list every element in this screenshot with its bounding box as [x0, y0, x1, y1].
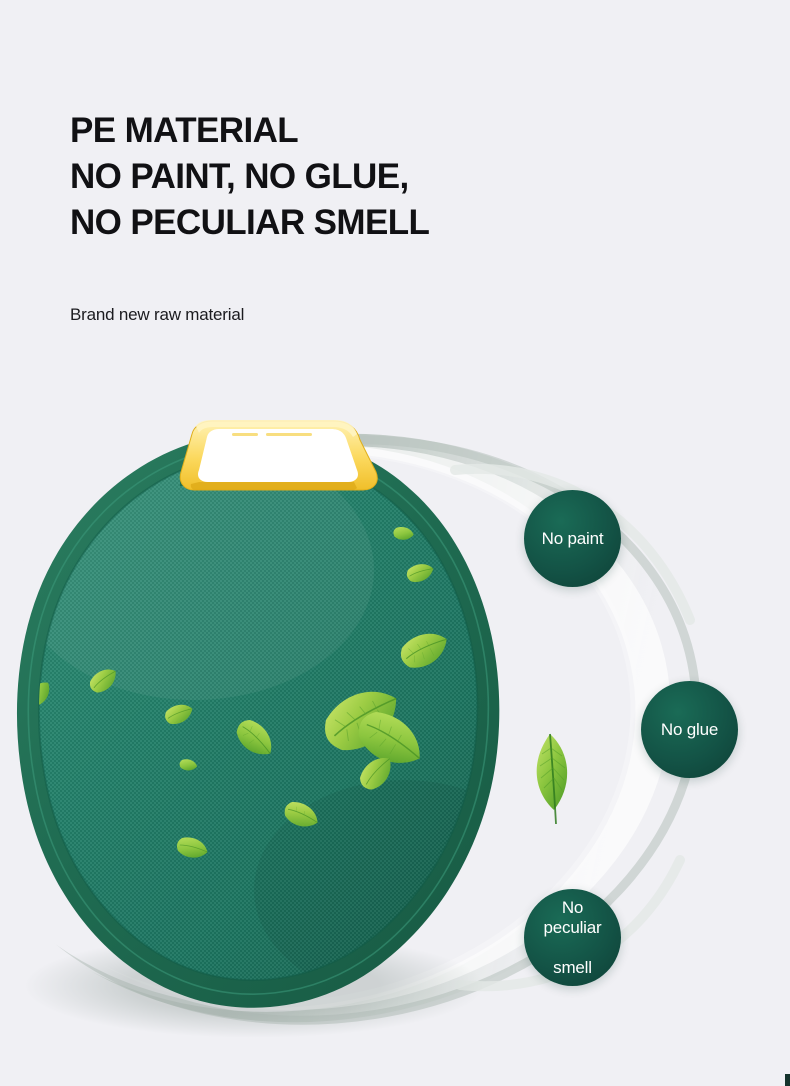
- badge-no-peculiar-smell[interactable]: No peculiar smell: [524, 889, 621, 986]
- badge-smell-line-1: No peculiar: [530, 898, 615, 938]
- board-handle: [180, 420, 377, 490]
- badge-no-peculiar-smell-label: No peculiar smell: [524, 898, 621, 978]
- badge-smell-line-2: smell: [530, 958, 615, 978]
- headline-line-3: NO PECULIAR SMELL: [70, 200, 630, 246]
- badge-no-paint-label: No paint: [536, 529, 610, 549]
- product-image: [4, 420, 524, 1020]
- cutting-board-illustration: [4, 420, 564, 1040]
- badge-no-paint[interactable]: No paint: [524, 490, 621, 587]
- headline-line-2: NO PAINT, NO GLUE,: [70, 154, 630, 200]
- subtitle: Brand new raw material: [70, 305, 244, 325]
- badge-no-glue-label: No glue: [655, 720, 724, 740]
- headline-line-1: PE MATERIAL: [70, 108, 630, 154]
- badge-no-glue[interactable]: No glue: [641, 681, 738, 778]
- headline-block: PE MATERIAL NO PAINT, NO GLUE, NO PECULI…: [70, 108, 630, 246]
- product-feature-banner: PE MATERIAL NO PAINT, NO GLUE, NO PECULI…: [0, 0, 790, 1086]
- next-section-sliver: [785, 1074, 790, 1086]
- floating-leaf-icon: [512, 726, 592, 836]
